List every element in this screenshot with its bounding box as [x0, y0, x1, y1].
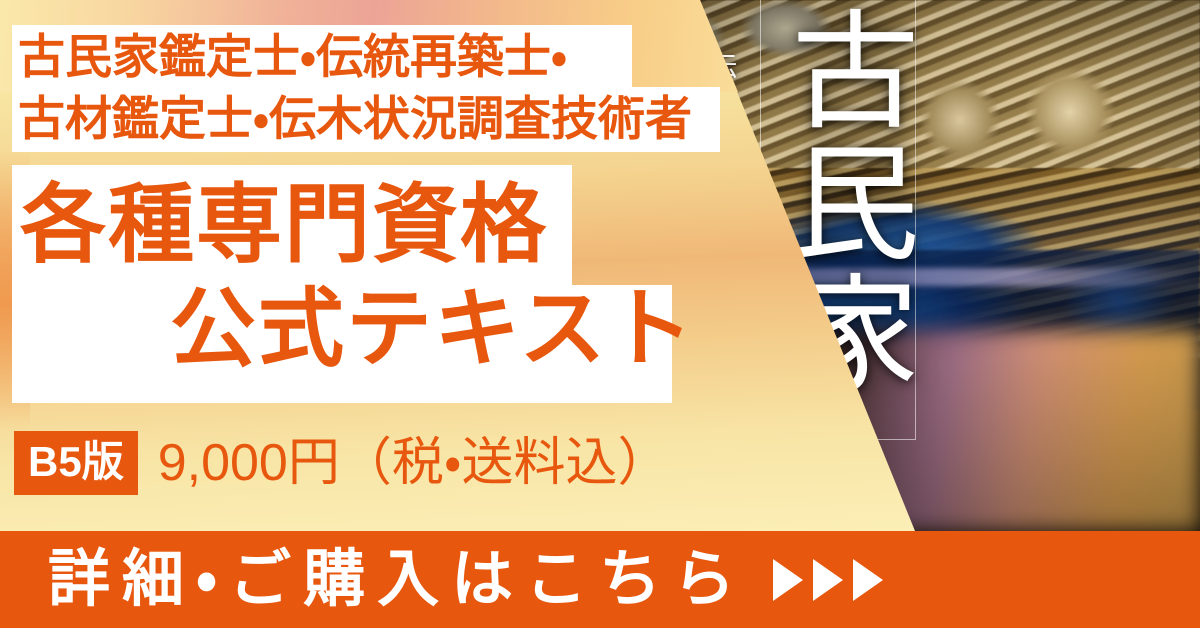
chevron-right-icon-3 [853, 559, 883, 601]
qualifications-text: 古民家鑑定士・伝統再築士・ 古材鑑定士・伝木状況調査技術者 [18, 26, 724, 150]
price-amount: 9,000円（税・送料込） [158, 437, 670, 489]
cta-arrow-group [773, 559, 883, 601]
headline-line-2: 公式テキスト [170, 286, 695, 372]
headline-line-1: 各種専門資格 [20, 182, 548, 268]
cta-label: 詳細・ご購入はこちら [48, 549, 747, 611]
promo-banner: 古民家 伝統構法、古民家活用のための調査と再生の 古民家鑑定士・伝統再築士・ 古… [0, 0, 1200, 628]
chevron-right-icon-1 [773, 559, 803, 601]
format-badge: B5版 [14, 431, 138, 495]
qualifications-line-2: 古材鑑定士・伝木状況調査技術者 [18, 88, 724, 150]
chevron-right-icon-2 [813, 559, 843, 601]
cta-bar[interactable]: 詳細・ご購入はこちら [0, 531, 1200, 628]
price-row: B5版 9,000円（税・送料込） [14, 430, 670, 496]
qualifications-line-1: 古民家鑑定士・伝統再築士・ [18, 26, 724, 88]
